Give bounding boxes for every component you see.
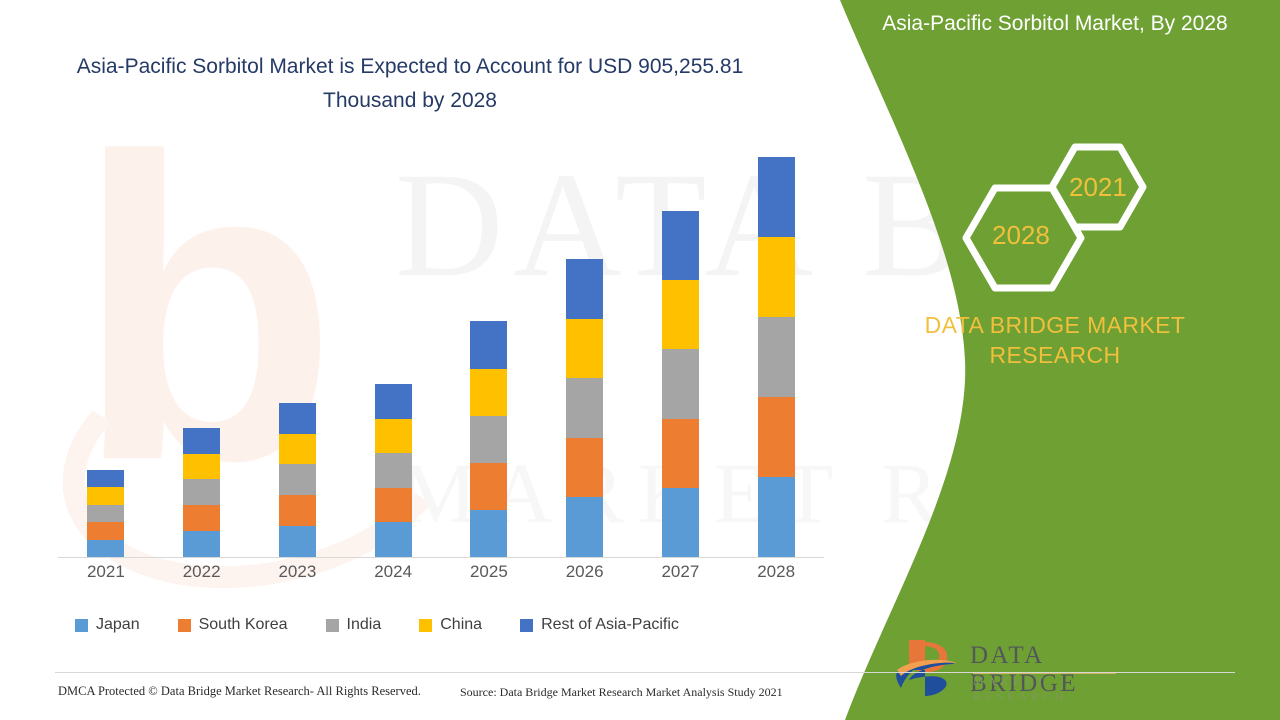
legend-label: China	[440, 616, 482, 634]
legend-swatch-icon	[178, 619, 191, 632]
x-axis-tick-label: 2023	[267, 562, 327, 582]
bar-segment	[566, 438, 603, 498]
bar-segment	[183, 531, 220, 557]
bar-segment	[375, 419, 412, 454]
bar-segment	[375, 488, 412, 523]
infographic-canvas: b DATA BRIDGE MARKET RESEARCH Asia-Pacif…	[0, 0, 1280, 720]
legend-item[interactable]: South Korea	[178, 616, 288, 634]
bar-column	[87, 470, 124, 558]
bar-segment	[87, 540, 124, 558]
footer-source: Source: Data Bridge Market Research Mark…	[460, 685, 783, 700]
chart-legend: JapanSouth KoreaIndiaChinaRest of Asia-P…	[75, 616, 717, 634]
legend-item[interactable]: India	[326, 616, 382, 634]
bar-segment	[758, 317, 795, 397]
bar-segment	[758, 237, 795, 317]
legend-label: Rest of Asia-Pacific	[541, 616, 679, 634]
logo-subtitle: MARKET RESEARCH	[973, 674, 1115, 704]
bar-segment	[87, 505, 124, 523]
bar-segment	[662, 280, 699, 349]
bar-column	[470, 321, 507, 557]
bar-segment	[375, 384, 412, 419]
footer-divider	[55, 672, 1235, 673]
x-axis-tick-label: 2021	[76, 562, 136, 582]
bar-segment	[470, 416, 507, 463]
hexagon-2028	[966, 188, 1081, 288]
bar-column	[662, 211, 699, 557]
bar-segment	[470, 510, 507, 557]
bar-segment	[758, 477, 795, 557]
legend-label: South Korea	[199, 616, 288, 634]
x-axis-line	[58, 557, 824, 558]
legend-swatch-icon	[520, 619, 533, 632]
bar-segment	[758, 397, 795, 477]
footer-copyright: DMCA Protected © Data Bridge Market Rese…	[58, 684, 421, 699]
logo-mark-icon	[895, 636, 965, 700]
legend-label: Japan	[96, 616, 140, 634]
brand-name: DATA BRIDGE MARKET RESEARCH	[860, 310, 1250, 370]
bar-segment	[566, 497, 603, 557]
bar-segment	[279, 434, 316, 465]
bar-segment	[566, 378, 603, 438]
chart-plot-area	[58, 140, 824, 558]
bar-column	[279, 403, 316, 557]
bar-segment	[470, 321, 507, 368]
bar-segment	[183, 454, 220, 480]
legend-item[interactable]: Rest of Asia-Pacific	[520, 616, 679, 634]
bar-segment	[566, 259, 603, 319]
page-title: Asia-Pacific Sorbitol Market is Expected…	[60, 50, 760, 118]
bar-segment	[183, 479, 220, 505]
legend-item[interactable]: Japan	[75, 616, 140, 634]
bar-segment	[470, 463, 507, 510]
bar-segment	[662, 349, 699, 418]
data-bridge-logo: DATA BRIDGE MARKET RESEARCH	[895, 636, 1115, 702]
right-green-panel: Asia-Pacific Sorbitol Market, By 2028 20…	[820, 0, 1280, 720]
bar-column	[758, 157, 795, 557]
bar-column	[375, 384, 412, 557]
x-axis-tick-label: 2022	[172, 562, 232, 582]
bar-segment	[183, 505, 220, 531]
bar-segment	[470, 369, 507, 416]
x-axis-tick-label: 2027	[650, 562, 710, 582]
x-axis-tick-label: 2028	[746, 562, 806, 582]
bar-segment	[662, 488, 699, 557]
stacked-bar-chart: 20212022202320242025202620272028	[58, 140, 824, 565]
bar-segment	[375, 522, 412, 557]
bar-column	[183, 428, 220, 557]
bar-segment	[279, 526, 316, 557]
bar-segment	[662, 211, 699, 280]
bar-segment	[758, 157, 795, 237]
bar-segment	[279, 464, 316, 495]
hexagon-2028-label: 2028	[992, 220, 1050, 251]
x-axis-tick-label: 2026	[555, 562, 615, 582]
legend-item[interactable]: China	[419, 616, 482, 634]
hexagon-2021-label: 2021	[1069, 172, 1127, 203]
bar-segment	[87, 487, 124, 505]
bar-segment	[183, 428, 220, 454]
x-axis-labels: 20212022202320242025202620272028	[58, 562, 824, 592]
hexagon-group: 2021 2028	[820, 0, 1280, 720]
bar-segment	[87, 522, 124, 540]
x-axis-tick-label: 2024	[363, 562, 423, 582]
bar-segment	[566, 319, 603, 379]
green-panel-shape	[820, 0, 1280, 720]
panel-title: Asia-Pacific Sorbitol Market, By 2028	[860, 8, 1250, 39]
x-axis-tick-label: 2025	[459, 562, 519, 582]
hexagon-2021	[1052, 147, 1143, 227]
legend-swatch-icon	[75, 619, 88, 632]
hexagon-outlines	[820, 0, 1280, 720]
bar-segment	[87, 470, 124, 488]
bar-segment	[375, 453, 412, 488]
legend-label: India	[347, 616, 382, 634]
bar-column	[566, 259, 603, 557]
legend-swatch-icon	[326, 619, 339, 632]
legend-swatch-icon	[419, 619, 432, 632]
bar-segment	[662, 419, 699, 488]
bar-segment	[279, 403, 316, 434]
bar-segment	[279, 495, 316, 526]
